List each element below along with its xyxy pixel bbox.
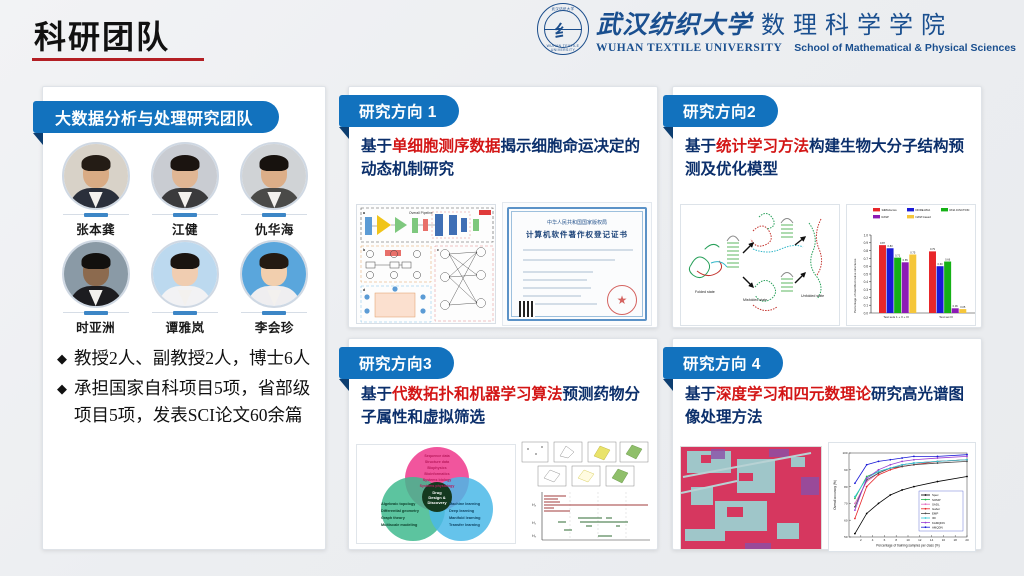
dir1-title-pre: 基于 bbox=[361, 138, 392, 155]
svg-text:d: d bbox=[363, 288, 365, 292]
team-ribbon-label: 大数据分析与处理研究团队 bbox=[33, 101, 279, 133]
svg-text:0.87: 0.87 bbox=[880, 241, 886, 245]
svg-text:Biophysics: Biophysics bbox=[427, 466, 446, 470]
dir4-title-highlight: 深度学习和四元数理论 bbox=[716, 386, 871, 403]
svg-text:0.6: 0.6 bbox=[864, 265, 869, 269]
svg-text:10: 10 bbox=[906, 538, 910, 542]
svg-text:0.4: 0.4 bbox=[864, 280, 869, 284]
svg-text:Multiscale modeling: Multiscale modeling bbox=[381, 523, 418, 527]
svg-text:0.71: 0.71 bbox=[895, 253, 901, 257]
diamond-bullet-icon: ◆ bbox=[57, 375, 67, 429]
svg-text:1.0: 1.0 bbox=[864, 233, 869, 237]
name-rule bbox=[241, 312, 307, 313]
seal-arc-bottom: WUHAN TEXTILE UNIVERSITY bbox=[537, 44, 589, 52]
svg-text:0.66: 0.66 bbox=[945, 257, 951, 261]
svg-text:2: 2 bbox=[860, 538, 862, 542]
svg-text:Overall Pipeline: Overall Pipeline bbox=[409, 211, 433, 215]
svg-text:80: 80 bbox=[844, 485, 848, 489]
dir4-title-pre: 基于 bbox=[685, 386, 716, 403]
svg-text:SADL: SADL bbox=[932, 502, 940, 506]
dir2-bar-chart: 0.00.10.20.30.40.50.60.70.80.91.00.870.8… bbox=[846, 204, 976, 326]
dir2-title-pre: 基于 bbox=[685, 138, 716, 155]
page-title: 科研团队 bbox=[34, 12, 170, 58]
svg-text:H₀: H₀ bbox=[532, 534, 537, 538]
name-rule bbox=[152, 312, 218, 313]
team-member: 张本龚 bbox=[53, 142, 138, 238]
rna-label-misfolded: Misfolded state bbox=[743, 298, 767, 302]
avatar bbox=[151, 240, 219, 308]
svg-text:3dRNAscore: 3dRNAscore bbox=[882, 208, 898, 212]
team-members-grid: 张本龚江健仇华海时亚洲谭雅岚李会珍 bbox=[53, 142, 317, 336]
svg-text:0.5: 0.5 bbox=[864, 272, 869, 276]
dir3-title-highlight: 代数拓扑和机器学习算法 bbox=[392, 386, 563, 403]
svg-text:DFIRE-RNA: DFIRE-RNA bbox=[916, 208, 931, 212]
svg-text:4: 4 bbox=[872, 538, 874, 542]
rna-label-unfolded: Unfolded state bbox=[801, 294, 824, 298]
svg-text:Discovery: Discovery bbox=[427, 500, 447, 505]
member-name: 江健 bbox=[172, 219, 198, 238]
member-name: 仇华海 bbox=[255, 219, 294, 238]
svg-text:Test set III: Test set III bbox=[939, 315, 953, 319]
svg-text:50: 50 bbox=[844, 535, 848, 539]
svg-text:c: c bbox=[437, 248, 439, 252]
svg-text:16: 16 bbox=[942, 538, 946, 542]
university-name-cn: 武汉纺织大学 bbox=[596, 5, 752, 41]
avatar bbox=[151, 142, 219, 210]
svg-text:Sequence data: Sequence data bbox=[424, 454, 450, 458]
svg-text:H₁: H₁ bbox=[532, 521, 537, 525]
svg-text:a: a bbox=[363, 211, 366, 215]
team-member: 李会珍 bbox=[232, 240, 317, 336]
dir2-ribbon-label: 研究方向2 bbox=[663, 95, 778, 127]
diamond-bullet-icon: ◆ bbox=[57, 345, 67, 372]
dir2-title: 基于统计学习方法构建生物大分子结构预测及优化模型 bbox=[685, 135, 973, 181]
svg-text:0.1: 0.1 bbox=[864, 304, 869, 308]
svg-text:Bioinformatics: Bioinformatics bbox=[424, 472, 449, 476]
svg-text:Spec: Spec bbox=[932, 493, 939, 497]
dir1-title: 基于单细胞测序数据揭示细胞命运决定的动态机制研究 bbox=[361, 135, 649, 181]
svg-text:Graph theory: Graph theory bbox=[381, 516, 406, 520]
svg-text:AMQDN: AMQDN bbox=[932, 525, 943, 529]
team-ribbon-fold bbox=[33, 133, 43, 145]
svg-text:Test sets 1 + II + III: Test sets 1 + II + III bbox=[883, 315, 909, 319]
team-card: 大数据分析与处理研究团队 张本龚江健仇华海时亚洲谭雅岚李会珍 ◆教授2人、副教授… bbox=[42, 86, 326, 550]
university-logo: 武汉纺织大学 WUHAN TEXTILE UNIVERSITY 纟 武汉纺织大学… bbox=[537, 3, 1016, 55]
avatar bbox=[62, 240, 130, 308]
svg-text:Transfer learning: Transfer learning bbox=[449, 523, 480, 527]
svg-text:Differential geometry: Differential geometry bbox=[381, 509, 420, 513]
svg-text:NAST-based: NAST-based bbox=[916, 215, 932, 219]
cert-title: 计算机软件著作权登记证书 bbox=[503, 229, 651, 240]
svg-text:0.9: 0.9 bbox=[864, 241, 869, 245]
university-name-en: WUHAN TEXTILE UNIVERSITY bbox=[596, 42, 782, 54]
dir1-ribbon-fold bbox=[339, 127, 349, 139]
dir4-ribbon-label: 研究方向 4 bbox=[663, 347, 783, 379]
svg-text:Machine learning: Machine learning bbox=[449, 502, 481, 506]
dir3-ribbon-fold bbox=[339, 379, 349, 391]
svg-text:b: b bbox=[363, 248, 366, 252]
svg-text:18: 18 bbox=[954, 538, 958, 542]
svg-text:RNA JUNCTION: RNA JUNCTION bbox=[950, 208, 970, 212]
dir1-title-highlight: 单细胞测序数据 bbox=[392, 138, 501, 155]
svg-text:KAMQDN: KAMQDN bbox=[932, 521, 945, 525]
svg-text:60: 60 bbox=[844, 518, 848, 522]
svg-text:0.7: 0.7 bbox=[864, 257, 869, 261]
svg-text:Manifold learning: Manifold learning bbox=[449, 516, 481, 520]
dir2-title-highlight: 统计学习方法 bbox=[716, 138, 809, 155]
svg-text:70: 70 bbox=[844, 502, 848, 506]
dir3-title-pre: 基于 bbox=[361, 386, 392, 403]
svg-text:90: 90 bbox=[844, 468, 848, 472]
svg-text:Deep learning: Deep learning bbox=[449, 509, 475, 513]
member-name: 李会珍 bbox=[255, 317, 294, 336]
svg-text:Overall accuracy (%): Overall accuracy (%) bbox=[833, 480, 837, 510]
svg-text:0.06: 0.06 bbox=[953, 304, 959, 308]
university-seal-icon: 武汉纺织大学 WUHAN TEXTILE UNIVERSITY 纟 bbox=[537, 3, 589, 55]
svg-text:0.65: 0.65 bbox=[903, 258, 909, 262]
team-member: 江健 bbox=[142, 142, 227, 238]
dir2-ribbon-fold bbox=[663, 127, 673, 139]
member-name: 张本龚 bbox=[76, 219, 115, 238]
svg-text:Systems biology: Systems biology bbox=[423, 478, 452, 482]
svg-text:0.05: 0.05 bbox=[960, 305, 966, 309]
dir4-ribbon-fold bbox=[663, 379, 673, 391]
highlight-item: ◆承担国家自科项目5项，省部级项目5项，发表SCI论文60余篇 bbox=[57, 375, 315, 429]
cert-qr-icon bbox=[519, 301, 535, 317]
dir3-title: 基于代数拓扑和机器学习算法预测药物分子属性和虚拟筛选 bbox=[361, 383, 649, 429]
svg-text:Percentage of training samples: Percentage of training samples per class… bbox=[876, 544, 939, 548]
name-rule bbox=[63, 214, 129, 215]
svg-text:0.60: 0.60 bbox=[938, 262, 944, 266]
dir4-hyperspectral-image-figure bbox=[680, 446, 822, 550]
avatar bbox=[62, 142, 130, 210]
name-rule bbox=[152, 214, 218, 215]
name-rule bbox=[241, 214, 307, 215]
svg-text:0.0: 0.0 bbox=[864, 311, 869, 315]
dir1-ribbon-label: 研究方向 1 bbox=[339, 95, 459, 127]
name-rule bbox=[63, 312, 129, 313]
svg-text:Algebraic topology: Algebraic topology bbox=[381, 502, 416, 506]
dir4-title: 基于深度学习和四元数理论研究高光谱图像处理方法 bbox=[685, 383, 973, 429]
rna-label-folded: Folded state bbox=[695, 290, 715, 294]
member-name: 谭雅岚 bbox=[165, 317, 204, 336]
dir3-persistence-barcode-figure: H₂ H₁ H₀ bbox=[520, 440, 652, 546]
svg-text:0.83: 0.83 bbox=[888, 244, 894, 248]
team-member: 仇华海 bbox=[232, 142, 317, 238]
svg-text:Structure data: Structure data bbox=[425, 460, 450, 464]
svg-text:20: 20 bbox=[965, 538, 969, 542]
svg-text:8: 8 bbox=[895, 538, 897, 542]
svg-text:0.8: 0.8 bbox=[864, 249, 869, 253]
dir1-copyright-certificate-figure: 中华人民共和国国家版权局 计算机软件著作权登记证书 bbox=[502, 202, 652, 326]
svg-text:12: 12 bbox=[918, 538, 922, 542]
dir3-ribbon-label: 研究方向3 bbox=[339, 347, 454, 379]
avatar bbox=[240, 142, 308, 210]
svg-text:100: 100 bbox=[842, 451, 847, 455]
highlight-text: 承担国家自科项目5项，省部级项目5项，发表SCI论文60余篇 bbox=[74, 375, 315, 429]
dir4-line-chart: 50607080901002468101214161820Percentage … bbox=[828, 442, 976, 552]
svg-text:0.75: 0.75 bbox=[910, 250, 916, 254]
team-highlights: ◆教授2人、副教授2人，博士6人◆承担国家自科项目5项，省部级项目5项，发表SC… bbox=[57, 345, 315, 432]
avatar bbox=[240, 240, 308, 308]
page-header: 科研团队 武汉纺织大学 WUHAN TEXTILE UNIVERSITY 纟 武… bbox=[0, 0, 1024, 70]
dir3-venn-diagram-figure: Drug Design & Discovery Sequence data St… bbox=[356, 444, 516, 544]
svg-text:IID: IID bbox=[932, 516, 936, 520]
svg-text:14: 14 bbox=[930, 538, 934, 542]
svg-text:0.79: 0.79 bbox=[930, 247, 936, 251]
school-name-en: School of Mathematical & Physical Scienc… bbox=[794, 42, 1016, 54]
svg-text:0.3: 0.3 bbox=[864, 288, 869, 292]
seal-glyph: 纟 bbox=[550, 16, 576, 42]
svg-text:6: 6 bbox=[884, 538, 886, 542]
title-underline bbox=[32, 58, 204, 61]
school-name-cn: 数理科学学院 bbox=[761, 5, 953, 40]
highlight-item: ◆教授2人、副教授2人，博士6人 bbox=[57, 345, 315, 372]
seal-arc-top: 武汉纺织大学 bbox=[537, 6, 589, 11]
dir1-neural-network-figure: Overall Pipeline bbox=[356, 204, 496, 324]
svg-text:H₂: H₂ bbox=[532, 503, 537, 507]
team-member: 时亚洲 bbox=[53, 240, 138, 336]
svg-text:EMP: EMP bbox=[932, 512, 938, 516]
cert-seal-icon bbox=[607, 285, 637, 315]
svg-text:0.2: 0.2 bbox=[864, 296, 869, 300]
svg-text:Percentage of identified nativ: Percentage of identified native structur… bbox=[853, 258, 857, 313]
svg-text:SOMP: SOMP bbox=[932, 498, 941, 502]
cert-issuer: 中华人民共和国国家版权局 bbox=[503, 219, 651, 226]
svg-text:Gabor: Gabor bbox=[932, 507, 940, 511]
svg-text:Systems physiology: Systems physiology bbox=[420, 484, 455, 488]
dir2-rna-folding-figure: Folded state Misfolded state bbox=[680, 204, 840, 326]
svg-text:RASP: RASP bbox=[882, 215, 890, 219]
highlight-text: 教授2人、副教授2人，博士6人 bbox=[74, 345, 310, 372]
member-name: 时亚洲 bbox=[76, 317, 115, 336]
team-member: 谭雅岚 bbox=[142, 240, 227, 336]
